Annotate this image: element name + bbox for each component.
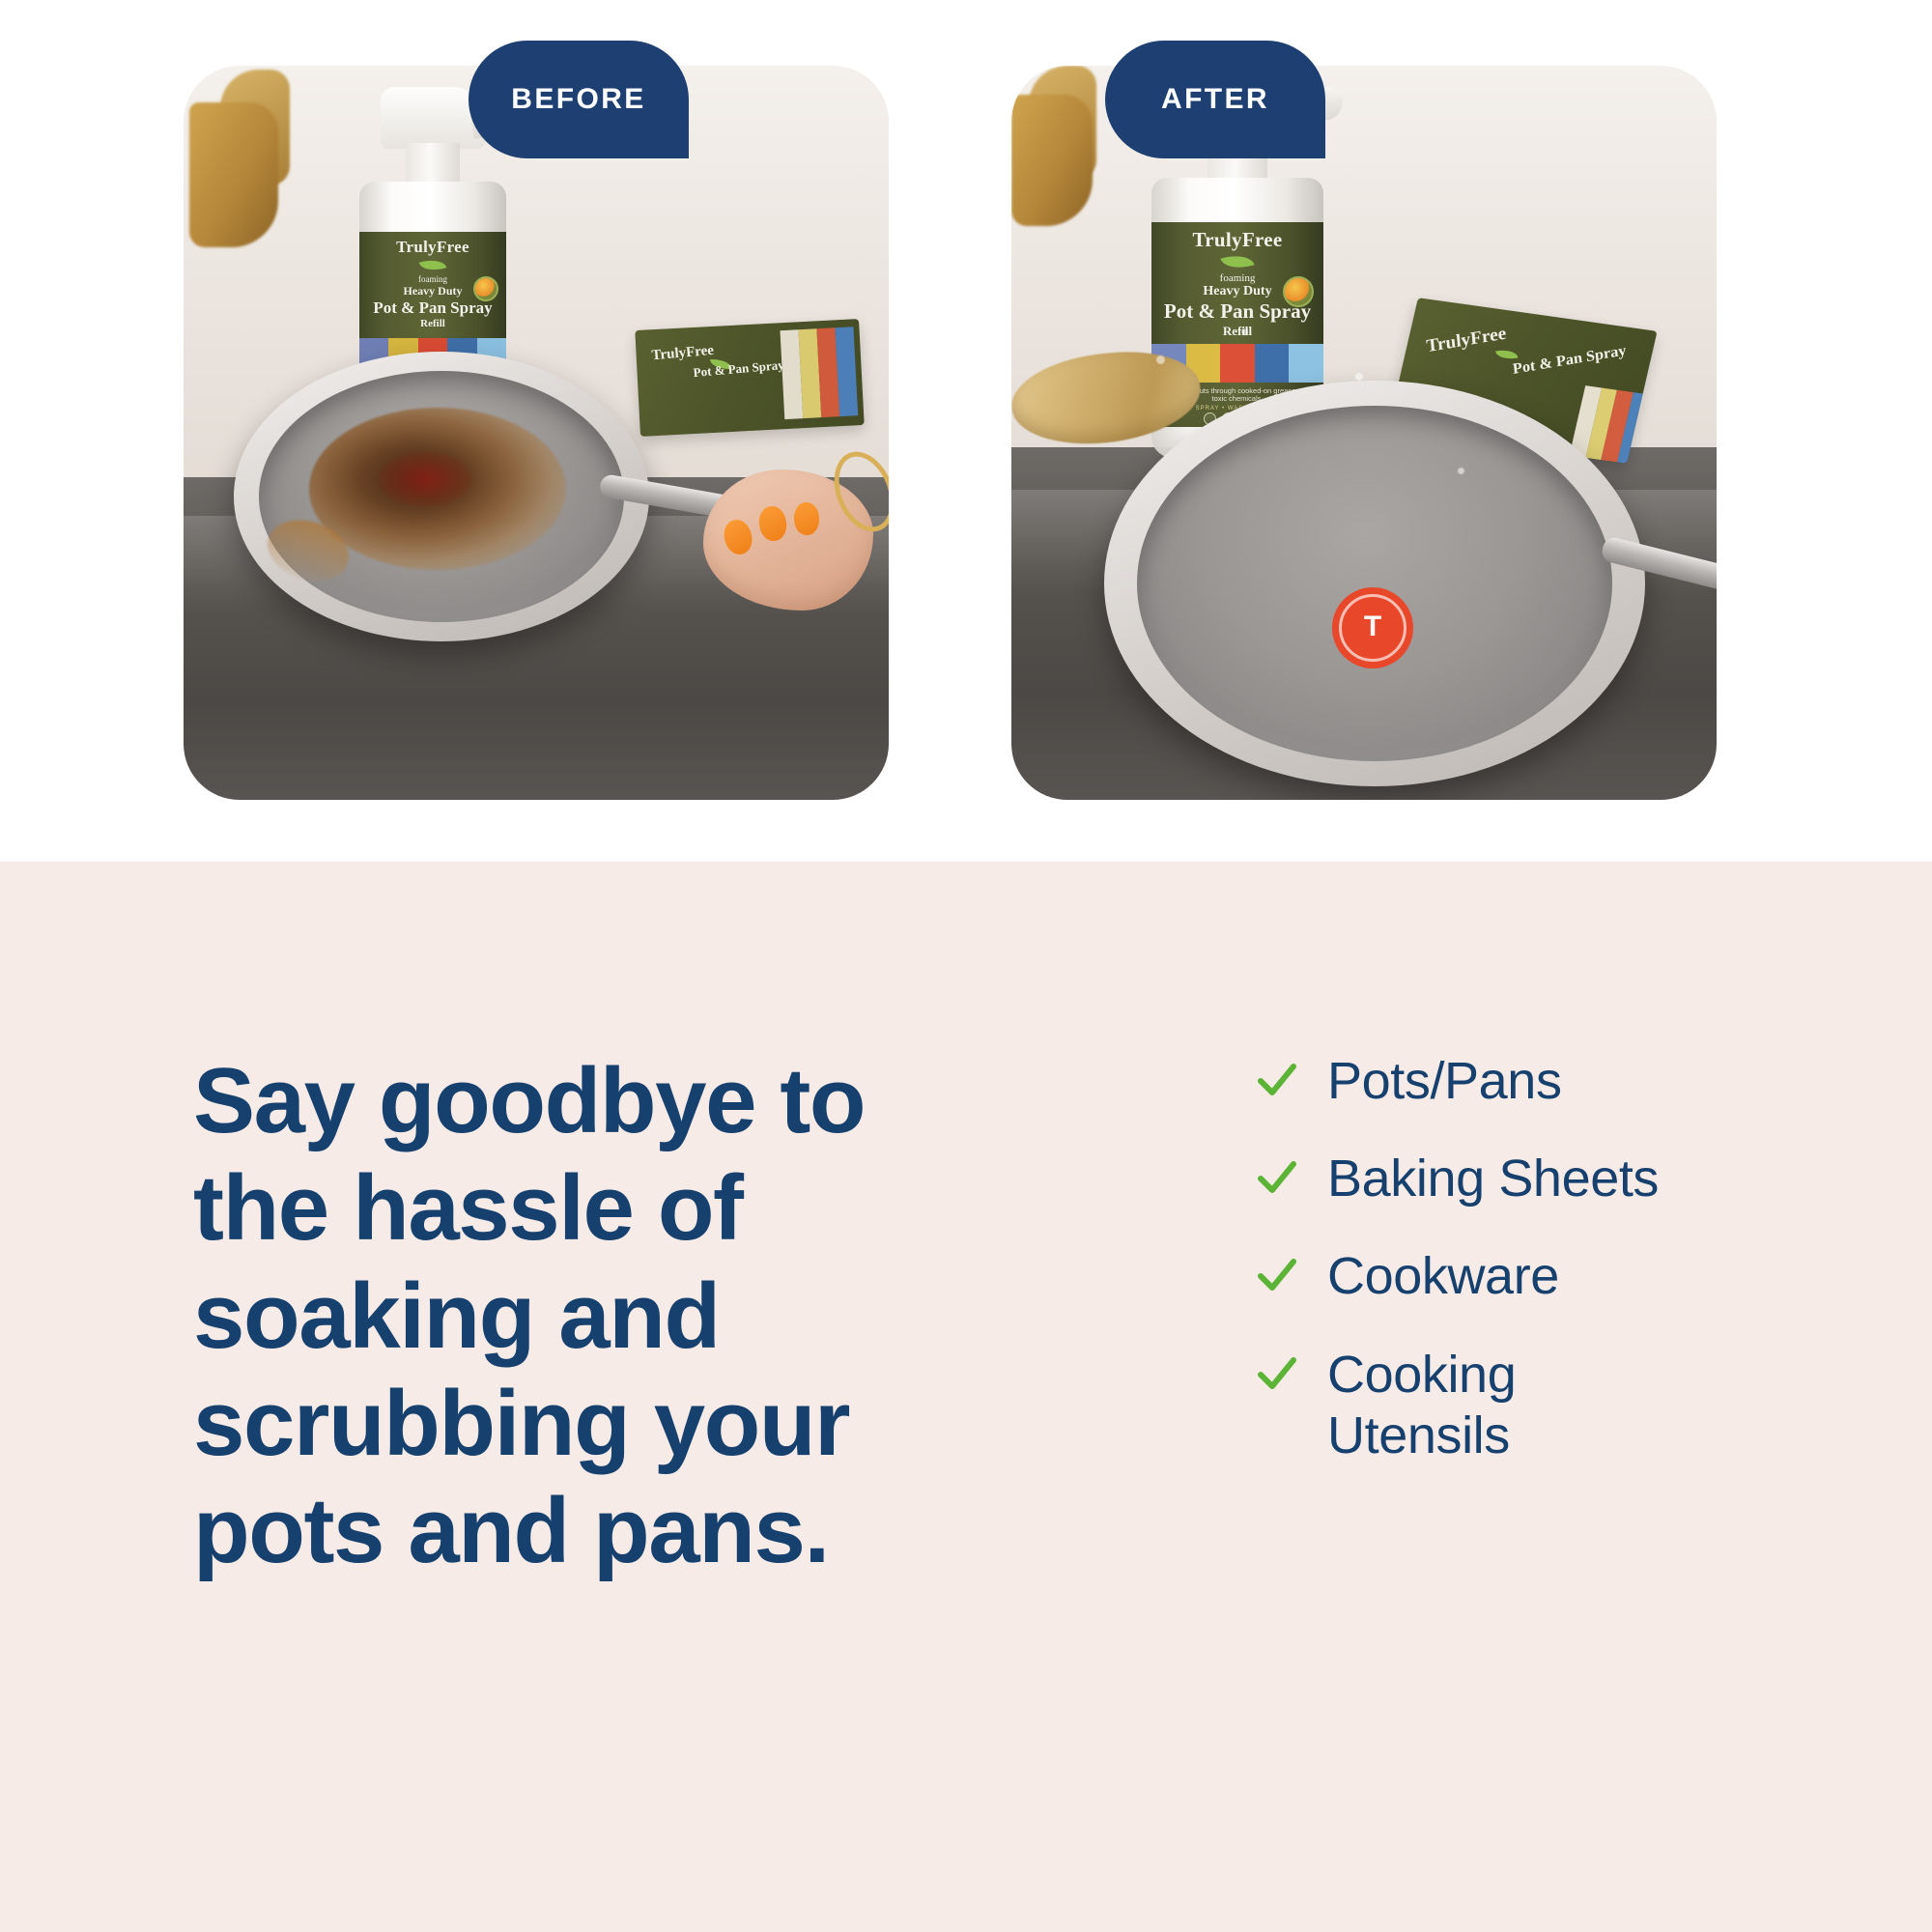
fingernail [793, 502, 819, 536]
before-badge-label: BEFORE [511, 83, 645, 116]
leaf-icon [1220, 250, 1254, 273]
burnt-grease-highlight [379, 452, 471, 506]
after-photo-panel: TrulyFree foaming Heavy Duty Pot & Pan S… [1011, 66, 1717, 800]
before-photo-panel: TrulyFree foaming Heavy Duty Pot & Pan S… [184, 66, 889, 800]
label-heavy-duty: Heavy Duty [1203, 284, 1271, 299]
headline: Say goodbye to the hassle of soaking and… [193, 1047, 927, 1585]
pan-interior [1137, 406, 1612, 761]
label-foaming: foaming [418, 274, 447, 284]
heat-indicator-logo: T [1332, 587, 1413, 668]
after-scene: TrulyFree foaming Heavy Duty Pot & Pan S… [1011, 66, 1717, 800]
list-item-label: Baking Sheets [1327, 1149, 1659, 1209]
certification-seal-icon [473, 276, 498, 301]
clean-pan: T [1104, 381, 1645, 786]
list-item: Cooking Utensils [1256, 1345, 1874, 1466]
water-droplet [1355, 373, 1363, 381]
list-item: Pots/Pans [1256, 1051, 1874, 1112]
list-item-label: Cooking Utensils [1327, 1345, 1656, 1466]
check-icon [1256, 1254, 1298, 1302]
after-badge-label: AFTER [1161, 83, 1269, 116]
list-item: Baking Sheets [1256, 1149, 1874, 1209]
before-badge: BEFORE [469, 41, 689, 158]
list-item-label: Cookware [1327, 1246, 1559, 1307]
dirty-pan [234, 352, 649, 641]
use-case-checklist: Pots/Pans Baking Sheets Cookware [1256, 1051, 1874, 1503]
packet-color-strip [780, 327, 858, 419]
check-icon [1256, 1059, 1298, 1107]
packet-brand: TrulyFree [651, 343, 715, 365]
label-refill: Refill [420, 318, 445, 329]
water-droplet [1156, 355, 1165, 364]
before-scene: TrulyFree foaming Heavy Duty Pot & Pan S… [184, 66, 889, 800]
infographic-page: TrulyFree foaming Heavy Duty Pot & Pan S… [0, 0, 1932, 1932]
list-item: Cookware [1256, 1246, 1874, 1307]
gold-faucet [1011, 95, 1093, 226]
refill-packet-before: TrulyFree Pot & Pan Spray [635, 319, 864, 437]
label-foaming: foaming [1220, 272, 1256, 284]
water-droplet [1241, 328, 1248, 335]
label-brand: TrulyFree [396, 238, 469, 257]
certification-seal-icon [1283, 276, 1314, 307]
heat-logo-mark: T [1364, 612, 1381, 641]
after-badge: AFTER [1105, 41, 1325, 158]
packet-product-name: Pot & Pan Spray [1512, 343, 1631, 379]
label-brand: TrulyFree [1193, 228, 1283, 252]
label-product-name: Pot & Pan Spray [373, 298, 492, 318]
list-item-label: Pots/Pans [1327, 1051, 1562, 1112]
gold-faucet [189, 102, 278, 247]
leaf-icon [419, 256, 447, 275]
water-droplet [1458, 468, 1464, 474]
check-icon [1256, 1156, 1298, 1205]
message-section: Say goodbye to the hassle of soaking and… [0, 862, 1932, 1932]
before-after-photo-strip: TrulyFree foaming Heavy Duty Pot & Pan S… [0, 0, 1932, 862]
check-icon [1256, 1352, 1298, 1401]
label-heavy-duty: Heavy Duty [404, 284, 463, 298]
packet-leaf-icon [1495, 348, 1518, 361]
